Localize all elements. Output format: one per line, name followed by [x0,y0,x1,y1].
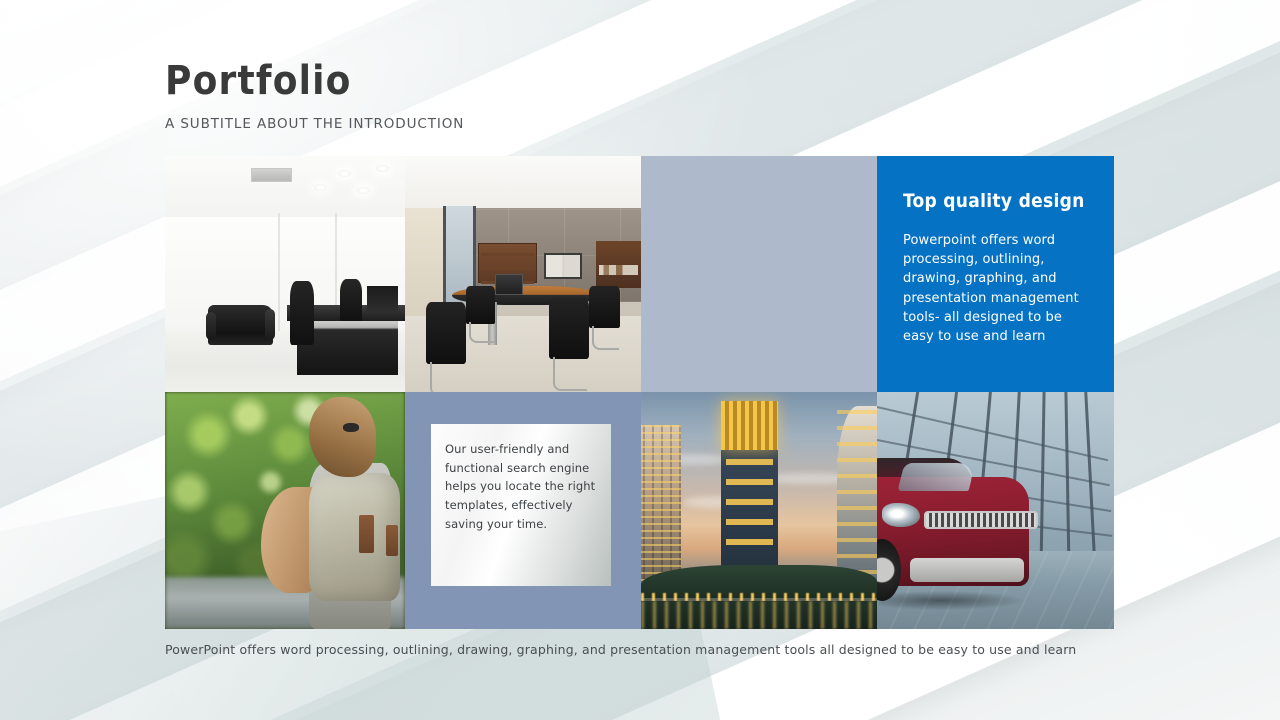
tower-windows [641,425,681,586]
tower-windows [837,406,877,586]
backpack-strap [386,525,398,556]
text-card-body: Our user-friendly and functional search … [445,440,597,533]
downlight [357,187,370,194]
car-headlight [882,503,920,527]
blue-panel-heading: Top quality design [903,190,1088,213]
text-card[interactable]: Our user-friendly and functional search … [431,424,611,586]
laptop-icon [495,274,523,295]
boardroom-ceiling [405,156,641,213]
leather-sofa [208,305,273,345]
framed-pictures [544,253,582,279]
gray-placeholder-block[interactable] [641,156,877,392]
slide-canvas: Portfolio A SUBTITLE ABOUT THE INTRODUCT… [0,0,1280,720]
city-lights [641,593,877,600]
hair-tie [343,423,360,432]
boardroom-photo[interactable] [405,156,641,392]
car-grille [924,511,1038,530]
downlight [338,170,351,177]
footer-caption: PowerPoint offers word processing, outli… [165,642,1145,657]
boardroom-chair [426,302,466,363]
water-reflection [641,601,877,629]
office-chair [290,281,314,345]
monitor [367,286,398,312]
boardroom-chair [466,286,494,324]
portfolio-grid: Top quality design Powerpoint offers wor… [165,156,1114,629]
city-photo[interactable] [641,392,877,629]
slide-header: Portfolio A SUBTITLE ABOUT THE INTRODUCT… [165,60,865,132]
car-bumper [910,558,1024,582]
car-windshield [897,463,975,491]
backpack-strap [359,515,373,553]
ceiling-vent-icon [251,168,292,182]
boardroom-chair [549,298,589,359]
skyscraper-center [721,401,778,586]
car-photo[interactable] [877,392,1114,629]
skyscraper-right [837,406,877,586]
text-card-frame: Our user-friendly and functional search … [405,392,641,629]
page-subtitle: A SUBTITLE ABOUT THE INTRODUCTION [165,116,865,132]
car-shadow [877,591,1024,610]
blue-text-panel[interactable]: Top quality design Powerpoint offers wor… [877,156,1114,392]
page-title: Portfolio [165,60,865,102]
tower-lights [726,457,774,559]
wooden-bookcase [596,241,641,288]
skyscraper-left [641,425,681,586]
hiker-photo[interactable] [165,392,405,629]
boardroom-chair [589,286,620,328]
office-chair [340,279,362,321]
office-photo[interactable] [165,156,405,392]
blue-panel-body: Powerpoint offers word processing, outli… [903,231,1088,346]
